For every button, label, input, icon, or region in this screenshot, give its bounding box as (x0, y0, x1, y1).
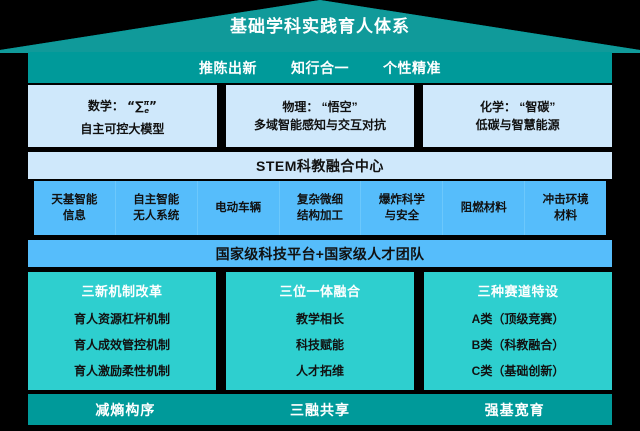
tech-cell-3[interactable]: 复杂微细 结构加工 (280, 181, 362, 235)
pillar-2-item-0: A类（顶级竞赛） (472, 310, 565, 327)
platform-label: 国家级科技平台+国家级人才团队 (216, 244, 425, 264)
foundation-item-1: 三融共享 (290, 400, 350, 420)
principle-item-0: 推陈出新 (199, 58, 257, 78)
tech-cell-6[interactable]: 冲击环境 材料 (525, 181, 606, 235)
discipline-codename-chemistry: “智碳” (519, 100, 555, 114)
summation-symbol-icon: “∑πe” (127, 94, 157, 120)
discipline-box-physics[interactable]: 物理： “悟空” 多域智能感知与交互对抗 (226, 85, 415, 147)
principles-band: 推陈出新 知行合一 个性精准 (28, 52, 612, 83)
pillar-mechanism-reform[interactable]: 三新机制改革 育人资源杠杆机制 育人成效管控机制 育人激励柔性机制 (28, 272, 216, 390)
pillars-row: 三新机制改革 育人资源杠杆机制 育人成效管控机制 育人激励柔性机制 三位一体融合… (28, 272, 612, 390)
pillar-1-item-0: 教学相长 (296, 310, 344, 327)
discipline-label-math: 数学： (88, 99, 124, 113)
disciplines-row: 数学： “∑πe” 自主可控大模型 物理： “悟空” 多域智能感知与交互对抗 化… (28, 85, 612, 147)
tech-cell-4[interactable]: 爆炸科学 与安全 (361, 181, 443, 235)
pillar-2-item-1: B类（科教融合） (472, 336, 565, 353)
pillar-title-2: 三种赛道特设 (477, 281, 558, 300)
principle-item-1: 知行合一 (291, 58, 349, 78)
principle-item-2: 个性精准 (383, 58, 441, 78)
foundation-item-0: 减熵构序 (95, 400, 155, 420)
pillar-title-0: 三新机制改革 (81, 281, 162, 300)
pillar-trinity-integration[interactable]: 三位一体融合 教学相长 科技赋能 人才拓维 (226, 272, 414, 390)
tech-label-5: 阻燃材料 (461, 200, 507, 216)
page-title: 基础学科实践育人体系 (0, 12, 640, 37)
tech-cell-5[interactable]: 阻燃材料 (443, 181, 525, 235)
tech-label-3: 复杂微细 结构加工 (297, 192, 343, 224)
summation-sup: π (144, 99, 150, 107)
tech-label-2: 电动车辆 (215, 200, 261, 216)
summation-sub: e (144, 107, 149, 115)
stem-center-label: STEM科教融合中心 (256, 156, 384, 176)
tech-label-6: 冲击环境 材料 (543, 192, 589, 224)
discipline-label-physics: 物理： (282, 100, 318, 114)
pillar-0-item-2: 育人激励柔性机制 (74, 362, 170, 379)
discipline-subtitle-physics: 多域智能感知与交互对抗 (254, 116, 386, 134)
stem-center-band[interactable]: STEM科教融合中心 (28, 152, 612, 179)
discipline-label-chemistry: 化学： (480, 100, 516, 114)
discipline-codename-physics: “悟空” (322, 100, 358, 114)
tech-cell-0[interactable]: 天基智能 信息 (34, 181, 116, 235)
pillar-three-tracks[interactable]: 三种赛道特设 A类（顶级竞赛） B类（科教融合） C类（基础创新） (424, 272, 612, 390)
house-diagram: 基础学科实践育人体系 推陈出新 知行合一 个性精准 数学： “∑πe” 自主可控… (0, 0, 640, 431)
foundation-item-2: 强基宽育 (485, 400, 545, 420)
tech-cell-1[interactable]: 自主智能 无人系统 (116, 181, 198, 235)
pillar-2-item-2: C类（基础创新） (472, 362, 565, 379)
tech-areas-row: 天基智能 信息 自主智能 无人系统 电动车辆 复杂微细 结构加工 爆炸科学 与安… (34, 181, 606, 235)
roof-shape: 基础学科实践育人体系 (0, 0, 640, 53)
pillar-0-item-0: 育人资源杠杆机制 (74, 310, 170, 327)
pillar-0-item-1: 育人成效管控机制 (74, 336, 170, 353)
discipline-subtitle-math: 自主可控大模型 (80, 120, 164, 138)
discipline-box-math[interactable]: 数学： “∑πe” 自主可控大模型 (28, 85, 217, 147)
pillar-1-item-2: 人才拓维 (296, 362, 344, 379)
pillar-1-item-1: 科技赋能 (296, 336, 344, 353)
discipline-heading-chemistry: 化学： “智碳” (480, 98, 555, 116)
foundation-band: 减熵构序 三融共享 强基宽育 (28, 394, 612, 425)
discipline-heading-physics: 物理： “悟空” (282, 98, 357, 116)
discipline-heading-math: 数学： “∑πe” (88, 94, 157, 120)
platform-band[interactable]: 国家级科技平台+国家级人才团队 (28, 240, 612, 267)
tech-label-1: 自主智能 无人系统 (133, 192, 179, 224)
tech-label-4: 爆炸科学 与安全 (379, 192, 425, 224)
tech-label-0: 天基智能 信息 (51, 192, 97, 224)
tech-cell-2[interactable]: 电动车辆 (198, 181, 280, 235)
pillar-title-1: 三位一体融合 (279, 281, 360, 300)
discipline-box-chemistry[interactable]: 化学： “智碳” 低碳与智慧能源 (423, 85, 612, 147)
discipline-subtitle-chemistry: 低碳与智慧能源 (476, 116, 560, 134)
